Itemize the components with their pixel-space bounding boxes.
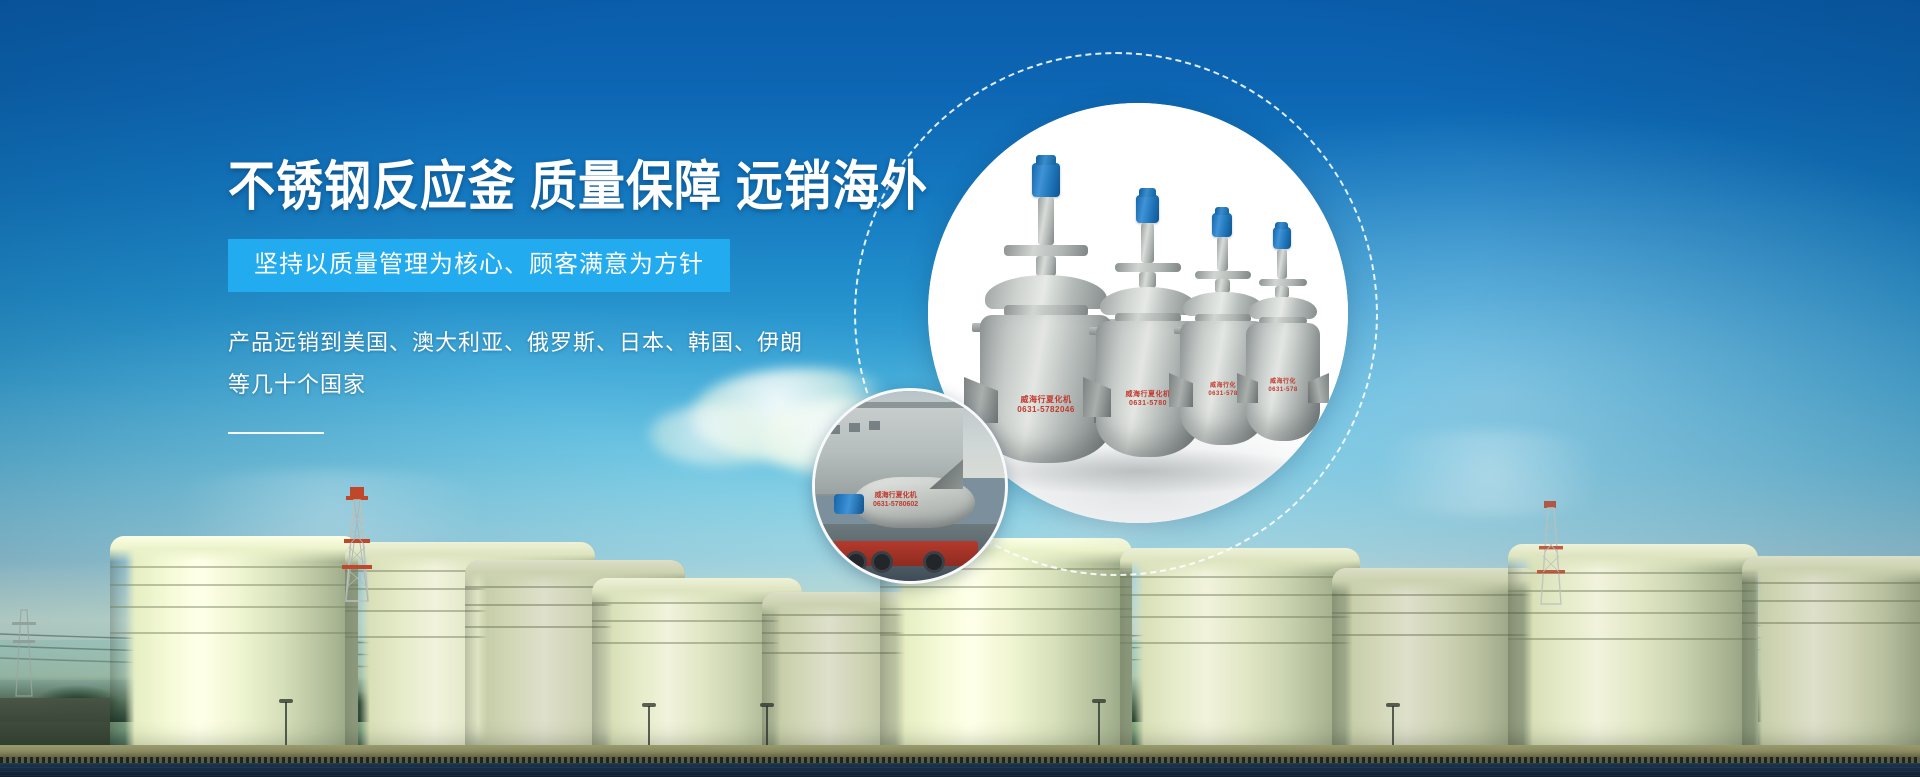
plant-building xyxy=(0,698,110,750)
description-line-1: 产品远销到美国、澳大利亚、俄罗斯、日本、韩国、伊朗 xyxy=(228,322,988,364)
vessel-label: 威海行化 0631-578 xyxy=(1246,379,1320,394)
tagline-badge: 坚持以质量管理为核心、顾客满意为方针 xyxy=(228,239,730,292)
transmission-tower xyxy=(330,483,384,613)
hero-banner: 威海行夏化机 0631-5782046 威海行夏化机 0631 xyxy=(0,0,1920,777)
page-title: 不锈钢反应釜质量保障远销海外 xyxy=(228,160,988,214)
product-shadow xyxy=(958,447,1318,495)
transmission-tower xyxy=(1528,498,1574,616)
utility-pole xyxy=(8,606,40,702)
mini-photo-label: 威海行夏化机 0631-5780602 xyxy=(873,491,918,509)
storage-tank xyxy=(1120,548,1360,750)
tagline-container: 坚持以质量管理为核心、顾客满意为方针 xyxy=(228,239,730,292)
divider-rule xyxy=(228,432,324,434)
street-lamp xyxy=(648,706,650,748)
street-lamp xyxy=(285,702,287,748)
banner-description: 产品远销到美国、澳大利亚、俄罗斯、日本、韩国、伊朗 等几十个国家 xyxy=(228,322,988,406)
banner-copy: 不锈钢反应釜质量保障远销海外 坚持以质量管理为核心、顾客满意为方针 产品远销到美… xyxy=(228,160,988,434)
storage-tank xyxy=(110,536,358,750)
water xyxy=(0,763,1920,777)
headline-part-2: 质量保障 xyxy=(530,155,722,218)
street-lamp xyxy=(1098,702,1100,748)
headline-part-1: 不锈钢反应釜 xyxy=(228,155,516,218)
headline-part-3: 远销海外 xyxy=(736,155,928,218)
mini-photo-motor xyxy=(834,494,864,514)
street-lamp xyxy=(1392,706,1394,748)
description-line-2: 等几十个国家 xyxy=(228,364,988,406)
street-lamp xyxy=(766,706,768,748)
reactor-vessel: 威海行化 0631-578 xyxy=(1246,227,1320,449)
storage-tank xyxy=(1742,556,1920,750)
